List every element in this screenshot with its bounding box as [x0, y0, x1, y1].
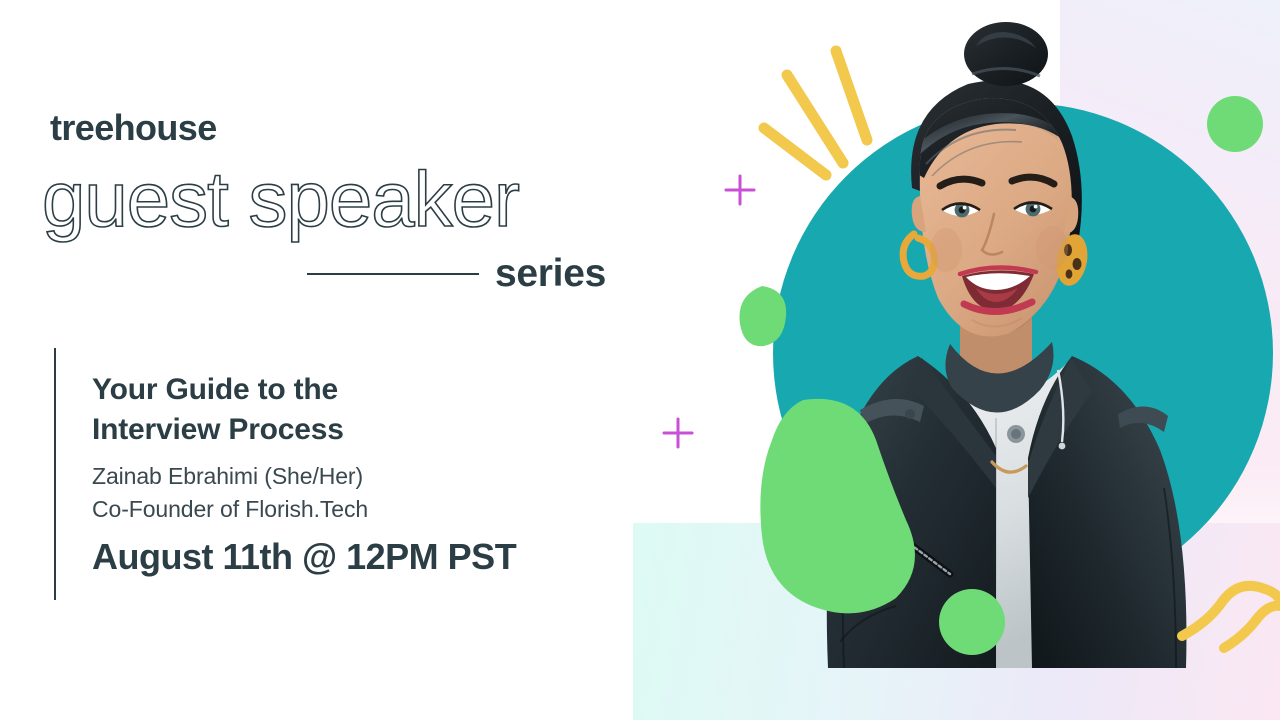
series-divider-rule — [307, 273, 479, 275]
event-datetime: August 11th @ 12PM PST — [92, 537, 516, 577]
magenta-plus-lower — [664, 419, 692, 447]
promo-slide: treehouse guest speaker series Your Guid… — [0, 0, 1280, 720]
magenta-plus-upper — [726, 176, 754, 204]
speaker-role: Co-Founder of Florish.Tech — [92, 493, 562, 526]
talk-title-line-1: Your Guide to the — [92, 370, 552, 410]
vertical-accent-rule — [54, 348, 56, 600]
speaker-info: Zainab Ebrahimi (She/Her) Co-Founder of … — [92, 460, 562, 525]
speaker-name: Zainab Ebrahimi (She/Her) — [92, 460, 562, 493]
talk-title: Your Guide to the Interview Process — [92, 370, 552, 449]
series-row: series — [307, 254, 606, 293]
speaker-portrait — [800, 18, 1220, 668]
talk-title-line-2: Interview Process — [92, 410, 552, 450]
brand-wordmark: treehouse — [50, 110, 217, 146]
series-label: series — [495, 254, 606, 293]
headline-outline: guest speaker — [42, 160, 519, 238]
